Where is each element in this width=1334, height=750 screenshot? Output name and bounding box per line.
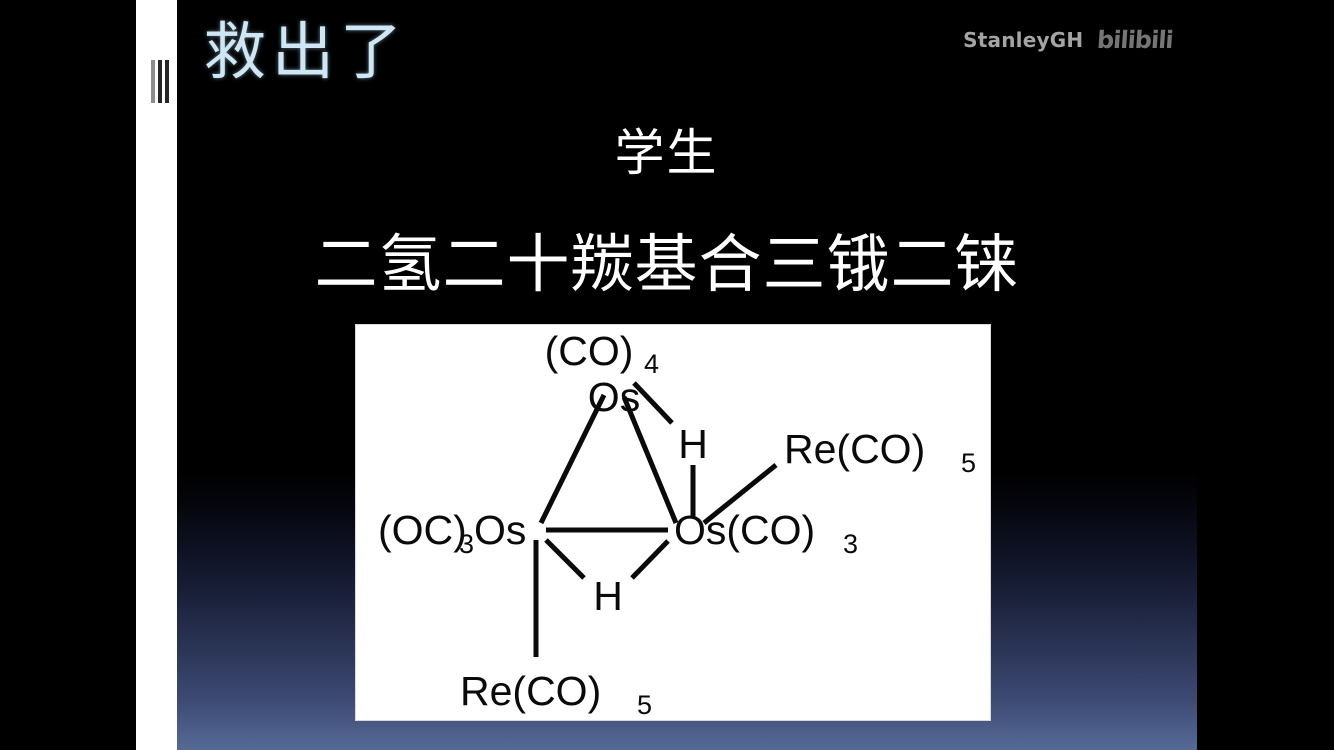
chemical-structure-figure: (CO) 4 Os H (OC) 3 Os Os(CO) 3 H Re(CO) … bbox=[356, 325, 990, 720]
handwriting-note: 救出了 bbox=[204, 20, 408, 87]
title-tick-marks bbox=[151, 60, 171, 103]
slide-theme-rail bbox=[136, 0, 177, 750]
bond-hydride-lower-to-os-right bbox=[632, 541, 668, 578]
presentation-slide: 救出了 学生 二氢二十羰基合三锇二铼 bbox=[136, 0, 1197, 750]
label-left-metal: Os bbox=[474, 507, 526, 553]
video-frame: 救出了 学生 二氢二十羰基合三锇二铼 bbox=[0, 0, 1334, 750]
subtitle-text: 学生 bbox=[615, 126, 719, 181]
label-left-carbonyls: (OC) bbox=[378, 507, 467, 553]
letterbox-right bbox=[1197, 0, 1334, 750]
label-top-carbonyls: (CO) bbox=[545, 328, 634, 374]
tick-mark-3 bbox=[165, 60, 169, 103]
label-top-carbonyls-subscript: 4 bbox=[644, 349, 659, 379]
tick-mark-1 bbox=[151, 60, 155, 103]
label-right-metal: Os(CO) bbox=[674, 507, 815, 553]
label-rhenium-bottom-subscript: 5 bbox=[637, 690, 652, 720]
watermark: StanleyGH bilibili bbox=[963, 26, 1173, 54]
label-hydride-upper: H bbox=[678, 421, 708, 467]
compound-title-text: 二氢二十羰基合三锇二铼 bbox=[315, 230, 1019, 301]
tick-mark-2 bbox=[158, 60, 162, 103]
label-rhenium-bottom: Re(CO) bbox=[460, 668, 601, 714]
watermark-username: StanleyGH bbox=[963, 28, 1083, 52]
label-hydride-lower: H bbox=[593, 573, 623, 619]
page-title: 二氢二十羰基合三锇二铼 bbox=[136, 230, 1197, 301]
structure-svg: (CO) 4 Os H (OC) 3 Os Os(CO) 3 H Re(CO) … bbox=[356, 325, 990, 720]
label-rhenium-right: Re(CO) bbox=[784, 426, 925, 472]
bond-os-left-to-hydride-lower bbox=[546, 540, 584, 578]
subtitle-line: 学生 bbox=[136, 126, 1197, 181]
label-right-metal-subscript: 3 bbox=[843, 529, 858, 559]
letterbox-left bbox=[0, 0, 136, 750]
label-rhenium-right-subscript: 5 bbox=[961, 448, 976, 478]
label-top-metal: Os bbox=[588, 374, 640, 420]
bilibili-logo-icon: bilibili bbox=[1096, 26, 1174, 54]
label-left-carbonyls-subscript: 3 bbox=[459, 529, 474, 559]
